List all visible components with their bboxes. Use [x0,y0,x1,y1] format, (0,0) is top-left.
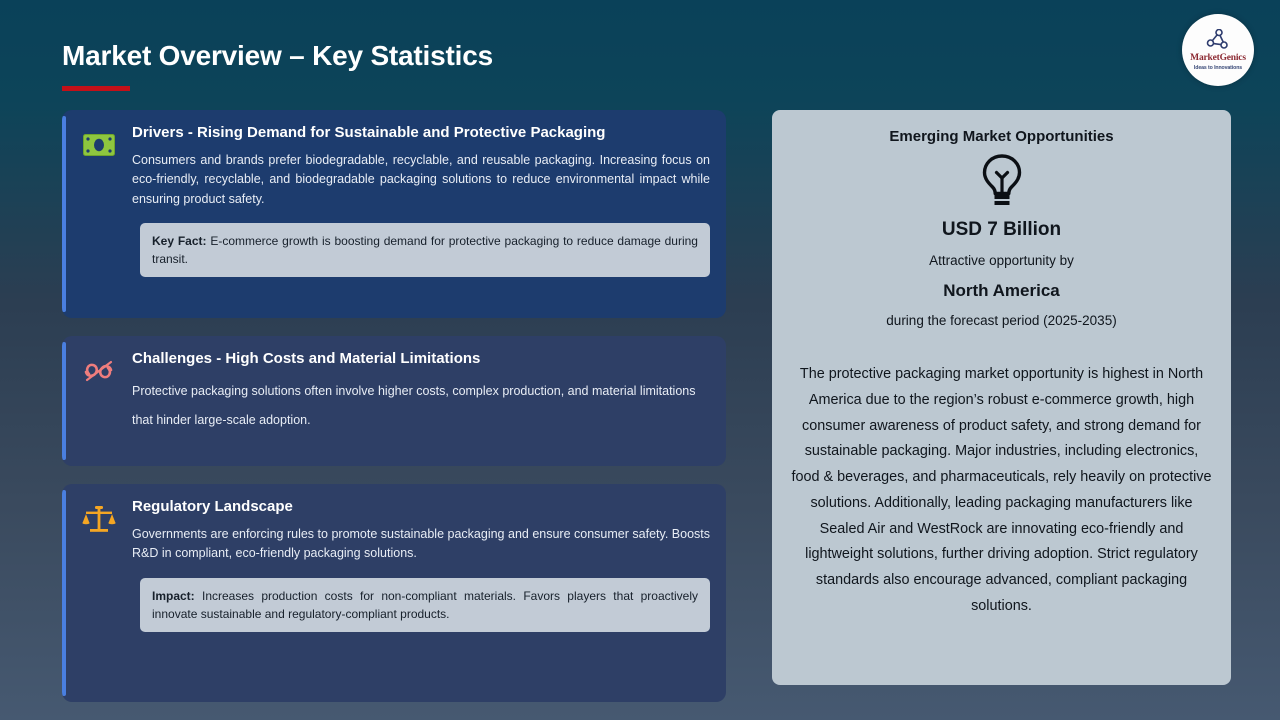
forecast-period: during the forecast period (2025-2035) [790,313,1213,328]
opportunity-region: North America [790,281,1213,301]
molecule-network-icon [1205,29,1231,53]
card-header: Challenges - High Costs and Material Lim… [80,350,710,434]
lightbulb-icon-wrapper [790,153,1213,209]
key-fact-text: E-commerce growth is boosting demand for… [152,234,698,266]
card-header: Drivers - Rising Demand for Sustainable … [80,124,710,209]
card-header: Regulatory Landscape Governments are enf… [80,498,710,564]
key-fact-label: Key Fact: [152,234,207,248]
card-text-block: Drivers - Rising Demand for Sustainable … [132,124,710,209]
emerging-opportunities-panel: Emerging Market Opportunities USD 7 Bill… [772,110,1231,685]
card-description: Governments are enforcing rules to promo… [132,525,710,564]
card-drivers[interactable]: Drivers - Rising Demand for Sustainable … [62,110,726,318]
card-description: Protective packaging solutions often inv… [132,377,710,435]
card-challenges[interactable]: Challenges - High Costs and Material Lim… [62,336,726,466]
brand-logo: MarketGenics Ideas to Innovations [1182,14,1254,86]
lightbulb-icon [978,153,1026,209]
page-title: Market Overview – Key Statistics [62,40,493,72]
scales-of-justice-icon [80,500,118,538]
opportunity-value: USD 7 Billion [790,219,1213,241]
logo-wordmark: MarketGenics [1190,54,1246,64]
card-description: Consumers and brands prefer biodegradabl… [132,151,710,209]
card-title: Drivers - Rising Demand for Sustainable … [132,124,710,143]
opportunity-subtitle: Attractive opportunity by [790,253,1213,268]
card-text-block: Challenges - High Costs and Material Lim… [132,350,710,434]
broken-link-icon [80,352,118,390]
panel-title: Emerging Market Opportunities [790,128,1213,145]
insight-cards-column: Drivers - Rising Demand for Sustainable … [62,110,726,720]
logo-tagline: Ideas to Innovations [1194,65,1242,71]
card-text-block: Regulatory Landscape Governments are enf… [132,498,710,564]
card-title: Regulatory Landscape [132,498,710,517]
card-regulatory-landscape[interactable]: Regulatory Landscape Governments are enf… [62,484,726,702]
impact-label: Impact: [152,589,195,603]
impact-box: Impact: Increases production costs for n… [140,578,710,632]
panel-paragraph: The protective packaging market opportun… [790,362,1213,620]
key-fact-box: Key Fact: E-commerce growth is boosting … [140,223,710,277]
slide-header: Market Overview – Key Statistics MarketG… [0,0,1280,100]
title-underline-accent [62,86,130,91]
impact-text: Increases production costs for non-compl… [152,589,698,621]
money-banknote-icon [80,126,118,164]
card-title: Challenges - High Costs and Material Lim… [132,350,710,369]
